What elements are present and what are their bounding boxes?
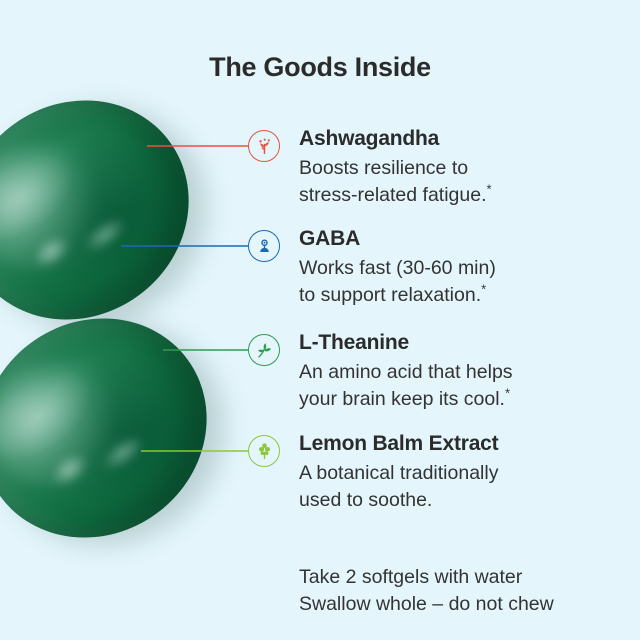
directions-block: Take 2 softgels with water Swallow whole… <box>299 564 640 618</box>
ingredient-description: Boosts resilience to stress-related fati… <box>299 155 629 209</box>
description-line-2: to support relaxation. <box>299 284 481 306</box>
directions-line-2: Swallow whole – do not chew <box>299 591 640 618</box>
gaba-molecule-icon <box>248 230 280 262</box>
ashwagandha-root-icon <box>248 130 280 162</box>
ingredient-name: GABA <box>299 226 629 252</box>
ingredient-description: Works fast (30-60 min) to support relaxa… <box>299 255 629 309</box>
ingredient-description: A botanical traditionally used to soothe… <box>299 460 629 514</box>
infographic-canvas: The Goods Inside Ashwagandha <box>0 0 640 640</box>
description-line-1: Works fast (30-60 min) <box>299 257 496 279</box>
footnote-asterisk: * <box>481 282 486 297</box>
ingredient-text-block: Lemon Balm Extract A botanical tradition… <box>299 431 629 514</box>
ingredient-description: An amino acid that helps your brain keep… <box>299 359 629 413</box>
description-line-1: Boosts resilience to <box>299 157 468 179</box>
ingredient-text-block: GABA Works fast (30-60 min) to support r… <box>299 226 629 309</box>
connector-lines <box>0 0 640 640</box>
ingredient-name: L-Theanine <box>299 330 629 356</box>
tea-leaf-icon <box>248 334 280 366</box>
description-line-2: stress-related fatigue. <box>299 184 487 206</box>
description-line-1: An amino acid that helps <box>299 361 513 383</box>
description-line-2: used to soothe. <box>299 489 432 511</box>
ingredient-name: Lemon Balm Extract <box>299 431 629 457</box>
description-line-2: your brain keep its cool. <box>299 388 505 410</box>
lemon-balm-sprout-icon <box>248 435 280 467</box>
footnote-asterisk: * <box>487 182 492 197</box>
ingredient-name: Ashwagandha <box>299 126 629 152</box>
footnote-asterisk: * <box>505 386 510 401</box>
directions-line-1: Take 2 softgels with water <box>299 564 640 591</box>
ingredient-text-block: Ashwagandha Boosts resilience to stress-… <box>299 126 629 209</box>
description-line-1: A botanical traditionally <box>299 462 498 484</box>
ingredient-text-block: L-Theanine An amino acid that helps your… <box>299 330 629 413</box>
